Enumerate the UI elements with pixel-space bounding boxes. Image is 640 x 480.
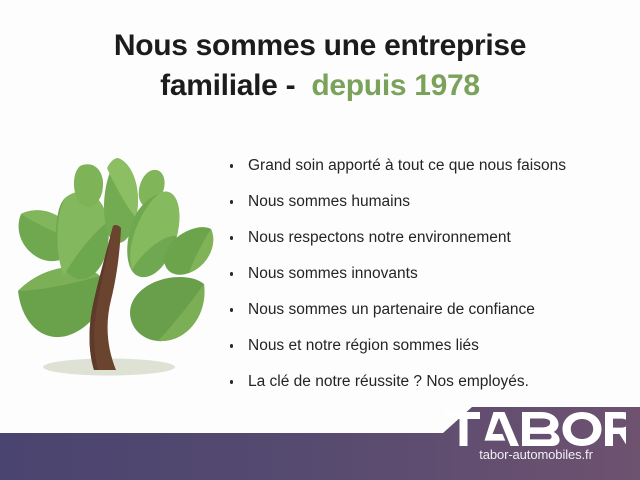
list-item: Nous et notre région sommes liés (228, 328, 632, 364)
list-item-label: Nous sommes innovants (248, 266, 418, 282)
bullet-dot-icon (230, 344, 233, 347)
list-item: Nous respectons notre environnement (228, 220, 632, 256)
list-item-label: Nous respectons notre environnement (248, 230, 511, 246)
headline-spacer (295, 69, 311, 102)
page-title: Nous sommes une entreprise familiale - d… (0, 26, 640, 106)
list-item: Nous sommes humains (228, 184, 632, 220)
list-item-label: La clé de notre réussite ? Nos employés. (248, 374, 529, 390)
list-item: Nous sommes un partenaire de confiance (228, 292, 632, 328)
list-item-label: Nous sommes humains (248, 194, 410, 210)
headline-dash (278, 69, 286, 102)
bullet-dot-icon (230, 380, 233, 383)
tabor-wordmark-icon (446, 412, 626, 446)
list-item-label: Grand soin apporté à tout ce que nous fa… (248, 158, 566, 174)
headline-dash-glyph: - (286, 69, 296, 102)
headline-line-2: familiale - depuis 1978 (18, 66, 622, 106)
bullet-dot-icon (230, 200, 233, 203)
benefits-list: Grand soin apporté à tout ce que nous fa… (228, 148, 632, 400)
headline-main-text: familiale (160, 69, 277, 102)
list-item-label: Nous et notre région sommes liés (248, 338, 479, 354)
headline-accent-text: depuis 1978 (311, 69, 479, 102)
bullet-dot-icon (230, 164, 233, 167)
footer-bar: tabor-automobiles.fr (0, 404, 640, 480)
list-item: La clé de notre réussite ? Nos employés. (228, 364, 632, 400)
bullet-dot-icon (230, 308, 233, 311)
list-item-label: Nous sommes un partenaire de confiance (248, 302, 535, 318)
brand-url-label: tabor-automobiles.fr (446, 447, 626, 462)
list-item: Nous sommes innovants (228, 256, 632, 292)
brand-logo[interactable]: tabor-automobiles.fr (446, 412, 626, 462)
bullet-dot-icon (230, 236, 233, 239)
list-item: Grand soin apporté à tout ce que nous fa… (228, 148, 632, 184)
bullet-dot-icon (230, 272, 233, 275)
slide-canvas: Nous sommes une entreprise familiale - d… (0, 0, 640, 480)
tree-illustration (8, 148, 220, 393)
headline-line-1: Nous sommes une entreprise (18, 26, 622, 66)
